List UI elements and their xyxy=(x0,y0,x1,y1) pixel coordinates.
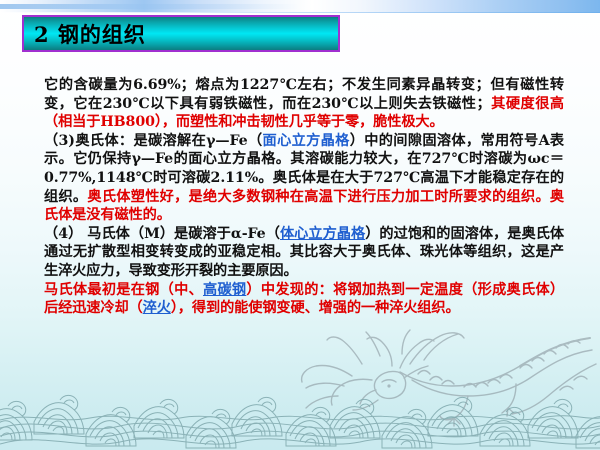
wave-pattern xyxy=(0,395,600,448)
page-title: 2 钢的组织 xyxy=(24,19,146,49)
p4-seg1-red: 马氏体最初是在钢（中、 xyxy=(44,282,203,298)
p1-seg1: 它的含碳量为6.69%；熔点为1227℃左右；不发生同素异晶转变；但有磁性转变，… xyxy=(44,77,564,112)
top-band-stripe xyxy=(0,4,300,9)
p2-seg4-red: 奥氏体塑性好，是绝大多数钢种在高温下进行压力加工时所要求的组织。奥氏体是没有磁性… xyxy=(44,189,564,224)
p2-seg2-blue: 面心立方晶格 xyxy=(263,133,350,149)
p4-seg5-red: ），得到的能使钢变硬、增强的一种淬火组织。 xyxy=(171,300,460,316)
top-decorative-band xyxy=(0,0,600,13)
paragraph-3: （4） 马氏体（M）是碳溶于α-Fe（体心立方晶格）的过饱和的固溶体，是奥氏体通… xyxy=(44,225,564,281)
slide-title-box: 2 钢的组织 xyxy=(22,15,340,52)
top-band-hairline xyxy=(0,12,600,13)
paragraph-4: 马氏体最初是在钢（中、高碳钢）中发现的：将钢加热到一定温度（形成奥氏体）后经迅速… xyxy=(44,281,564,318)
slide-body-text: 它的含碳量为6.69%；熔点为1227℃左右；不发生同素异晶转变；但有磁性转变，… xyxy=(44,76,564,318)
p2-seg1: （3)奥氏体：是碳溶解在γ—Fe（ xyxy=(44,133,263,149)
p3-seg2-blue-underline: 体心立方晶格 xyxy=(280,226,365,242)
p4-seg4-blue-underline: 淬火 xyxy=(143,300,171,316)
p4-seg2-blue-underline: 高碳钢 xyxy=(203,282,246,298)
decorative-artwork xyxy=(0,320,600,450)
p3-seg1: （4） 马氏体（M）是碳溶于α-Fe（ xyxy=(44,226,280,242)
dragon-icon xyxy=(302,330,596,426)
paragraph-1: 它的含碳量为6.69%；熔点为1227℃左右；不发生同素异晶转变；但有磁性转变，… xyxy=(44,76,564,132)
paragraph-2: （3)奥氏体：是碳溶解在γ—Fe（面心立方晶格）中的间隙固溶体，常用符号A表示。… xyxy=(44,132,564,225)
slide-canvas: 2 钢的组织 它的含碳量为6.69%；熔点为1227℃左右；不发生同素异晶转变；… xyxy=(0,0,600,450)
